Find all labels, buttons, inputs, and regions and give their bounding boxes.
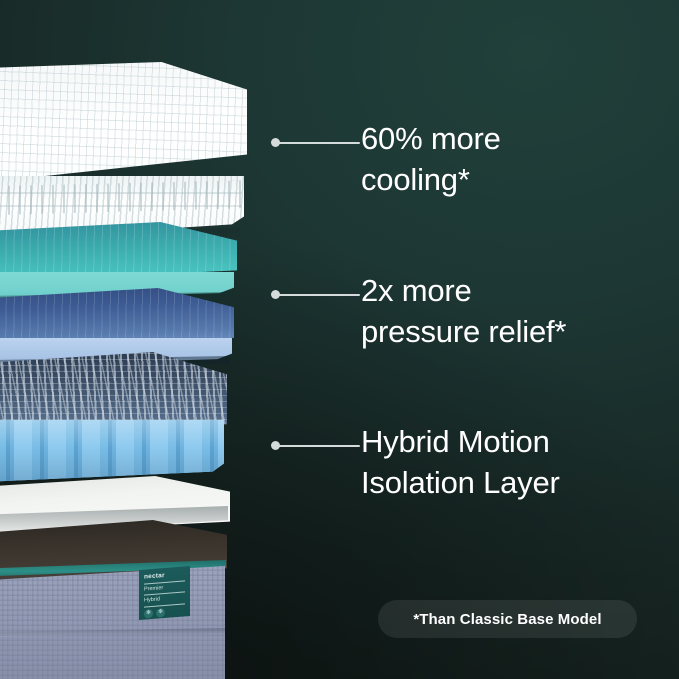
footnote-text: *Than Classic Base Model (413, 611, 601, 628)
callout-motion-isolation: Hybrid Motion Isolation Layer (271, 432, 560, 503)
product-feature-image: nectar Premier Hybrid ❄ ❄ 60% more cooli… (0, 0, 679, 679)
callout-pressure-relief-label: 2x more pressure relief* (361, 270, 566, 352)
dot-line-connector-icon-2 (271, 281, 361, 307)
connector-line-icon-2 (278, 294, 360, 296)
callout-motion-isolation-label: Hybrid Motion Isolation Layer (361, 421, 560, 503)
callout-pressure-relief: 2x more pressure relief* (271, 281, 566, 352)
connector-line-icon (278, 142, 360, 144)
connector-line-icon-3 (278, 445, 360, 447)
mattress-layer-stack-illustration: nectar Premier Hybrid ❄ ❄ (0, 0, 282, 679)
callout-cooling-label: 60% more cooling* (361, 118, 501, 200)
label-icon-row: ❄ ❄ (144, 606, 185, 618)
snowflake-icon-2: ❄ (156, 607, 165, 617)
snowflake-icon: ❄ (144, 608, 153, 618)
mattress-layer-quilted-cover-top (0, 62, 247, 187)
pocketed-coils-shading (0, 420, 224, 488)
dot-line-connector-icon-3 (271, 432, 361, 458)
nectar-brand-label: nectar Premier Hybrid ❄ ❄ (139, 566, 190, 620)
callout-cooling: 60% more cooling* (271, 129, 501, 200)
base-unit-knit-cover (0, 566, 225, 679)
dot-line-connector-icon (271, 129, 361, 155)
footnote-badge: *Than Classic Base Model (378, 600, 637, 638)
